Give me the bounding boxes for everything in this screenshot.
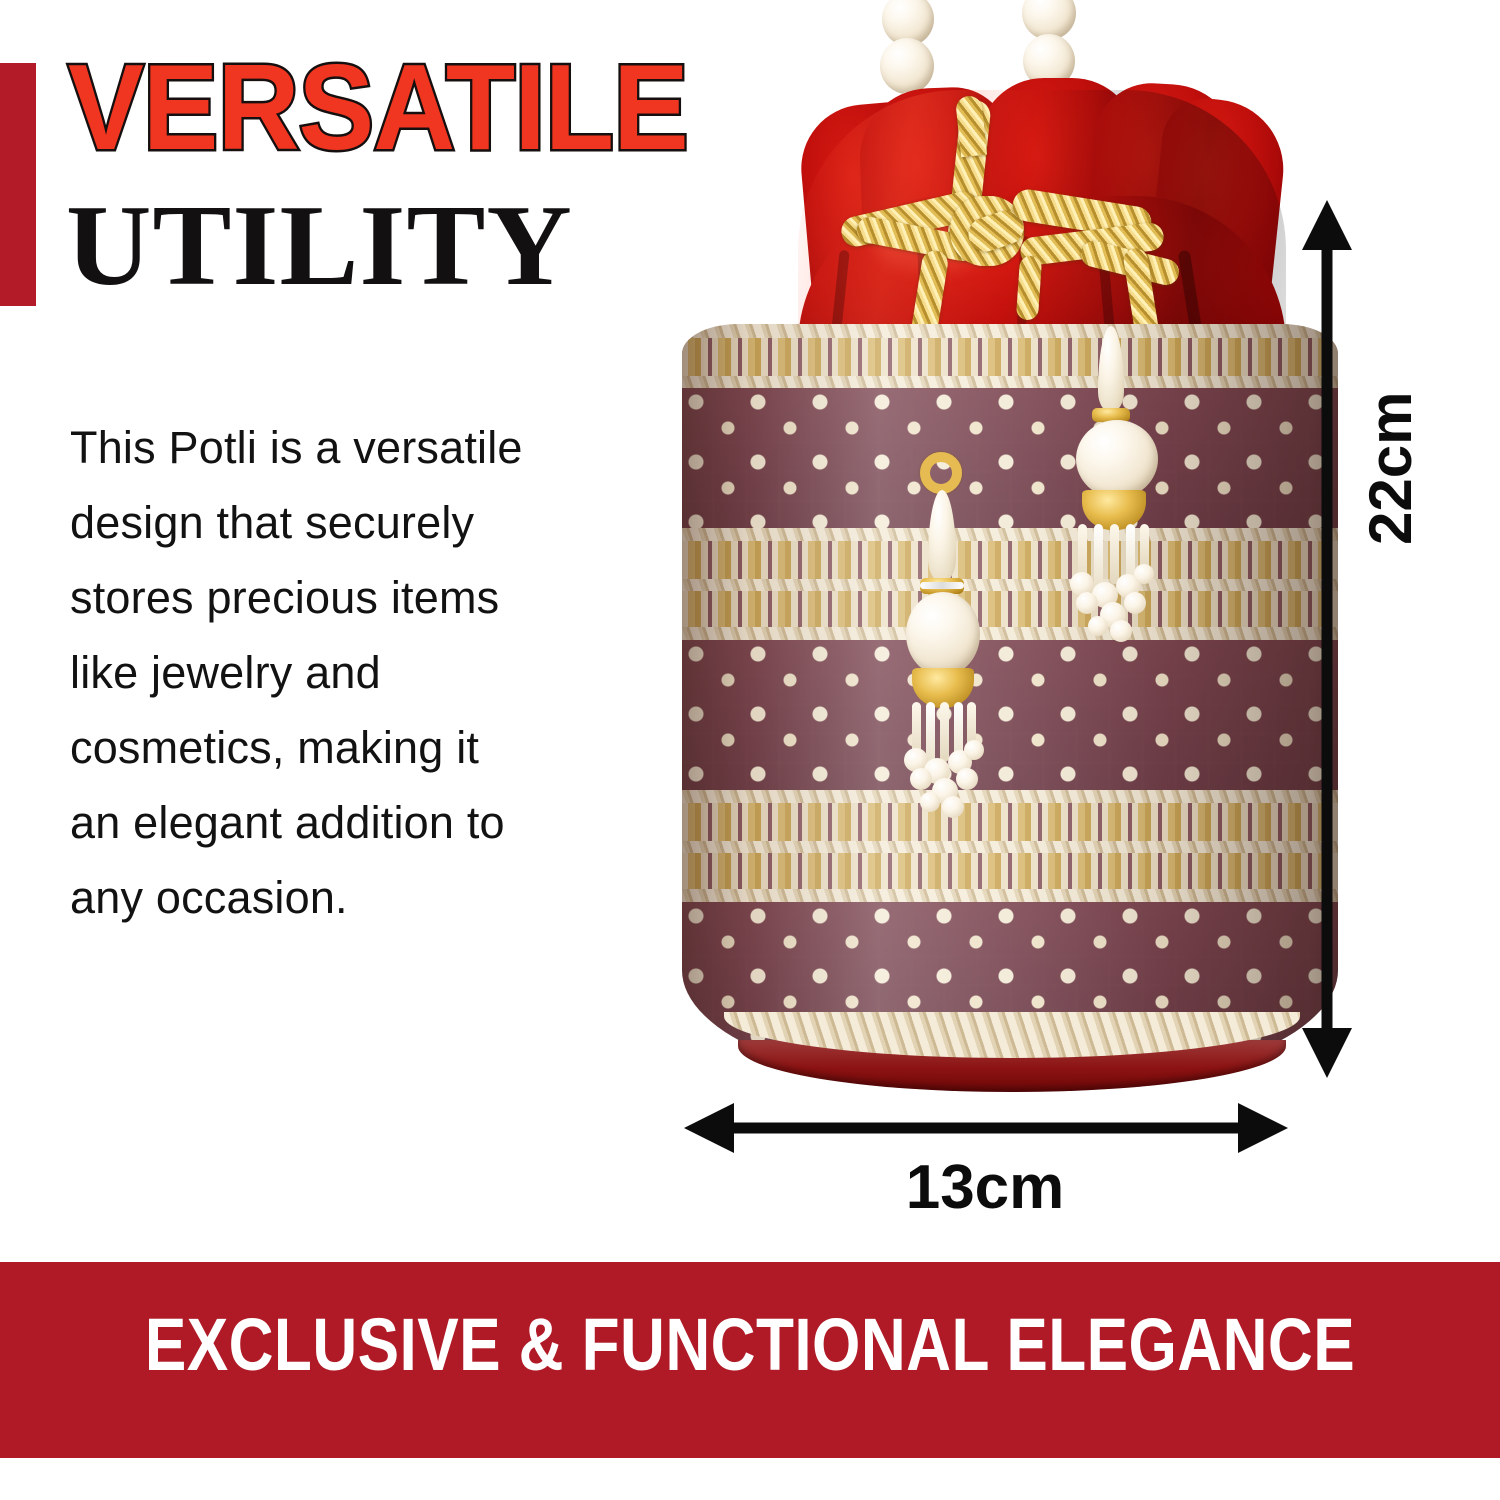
red-accent-bar <box>0 63 36 306</box>
product-description: This Potli is a versatile design that se… <box>70 410 540 935</box>
width-arrow <box>684 1103 1288 1153</box>
product-image-potli-bag <box>620 0 1340 1110</box>
width-dimension-label: 13cm <box>906 1152 1065 1223</box>
height-dimension-label: 22cm <box>1356 392 1425 545</box>
infographic-canvas: VERSATILE UTILITY This Potli is a versat… <box>0 0 1500 1500</box>
embroidered-body <box>682 324 1338 1090</box>
page-title-primary: VERSATILE <box>68 48 688 166</box>
footer-banner-text: EXCLUSIVE & FUNCTIONAL ELEGANCE <box>120 1300 1380 1390</box>
page-title-secondary: UTILITY <box>66 186 573 306</box>
